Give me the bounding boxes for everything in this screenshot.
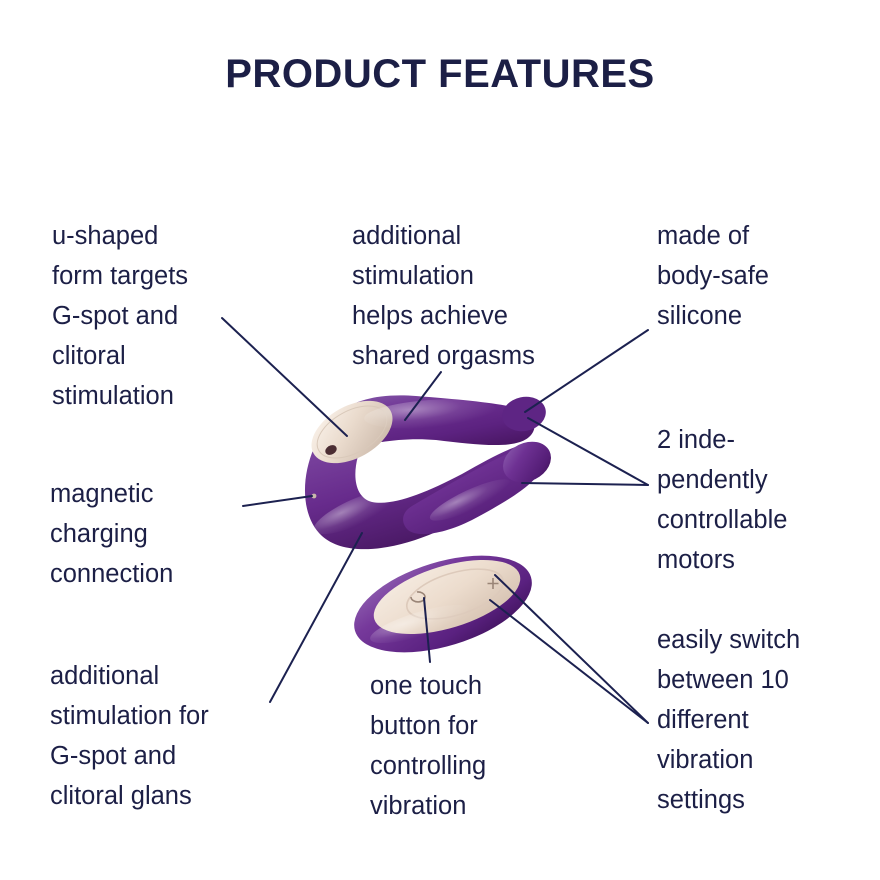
callout-vibration-settings: easily switch between 10 different vibra… — [657, 620, 800, 820]
callout-body-safe-silicone: made of body-safe silicone — [657, 216, 769, 336]
callout-additional-stimulation-orgasms: additional stimulation helps achieve sha… — [352, 216, 535, 376]
callout-one-touch-button: one touch button for controlling vibrati… — [370, 666, 486, 826]
callout-magnetic-charging: magnetic charging connection — [50, 474, 173, 594]
callout-u-shaped-form: u-shaped form targets G-spot and clitora… — [52, 216, 188, 416]
callout-independent-motors: 2 inde- pendently controllable motors — [657, 420, 787, 580]
callout-additional-stimulation-glans: additional stimulation for G-spot and cl… — [50, 656, 209, 816]
main-device-illustration — [301, 388, 558, 549]
remote-control-illustration — [343, 537, 544, 671]
product-features-infographic: PRODUCT FEATURES — [0, 0, 880, 880]
